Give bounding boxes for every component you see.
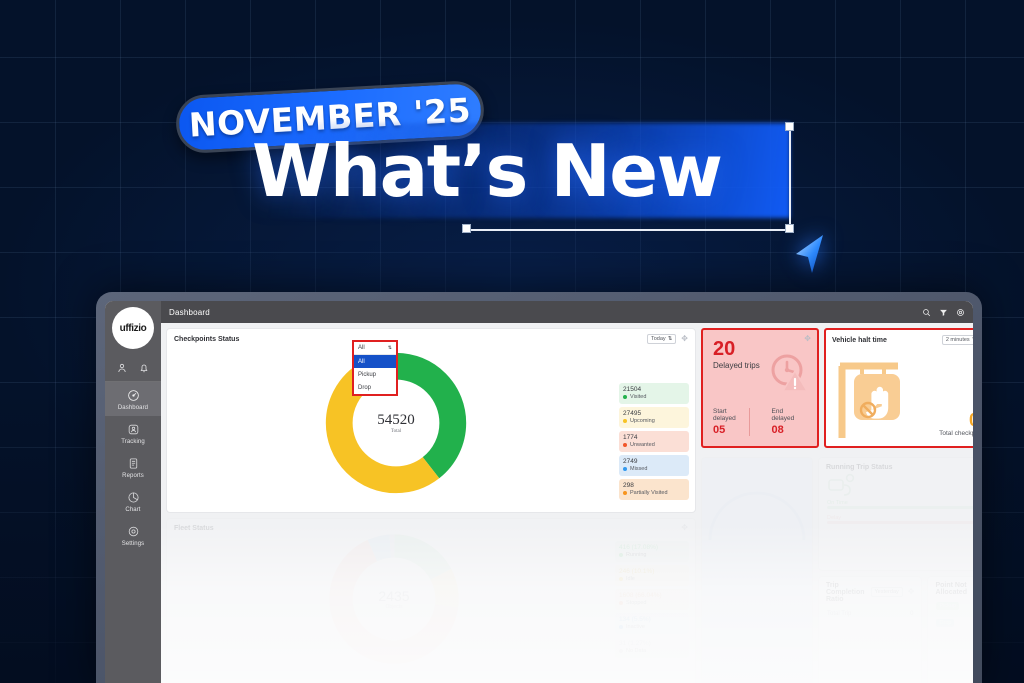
legend-item[interactable]: 134 (5.5%) Inactive bbox=[615, 613, 689, 634]
second-cards-row: Running Trip Status ✥ bbox=[701, 457, 968, 683]
legend-value: 1774 bbox=[623, 434, 685, 442]
legend-value: 246 (10.1%) bbox=[619, 568, 685, 576]
legend-value: 1608 (66.04%) bbox=[619, 592, 685, 600]
sidebar-item-label: Tracking bbox=[121, 439, 145, 445]
legend-item[interactable]: 2749 Missed bbox=[619, 455, 689, 476]
delay-label: Delay bbox=[827, 515, 841, 521]
legend-dot bbox=[623, 491, 627, 495]
legend-dot bbox=[619, 601, 623, 605]
legend-name: Missed bbox=[623, 466, 685, 473]
card-header: Checkpoints Status Today⇅ ✥ bbox=[167, 329, 695, 346]
vehicle-halt-time-card: Vehicle halt time 2 minutes⇅ ✥ bbox=[824, 328, 973, 448]
checkpoints-period-select[interactable]: Today⇅ bbox=[647, 334, 676, 344]
selection-handle-top-right[interactable] bbox=[785, 122, 794, 131]
legend-label: Running bbox=[626, 552, 647, 559]
legend-dot bbox=[623, 443, 627, 447]
drag-move-icon[interactable]: ✥ bbox=[681, 335, 688, 343]
legend-label: Unwanted bbox=[630, 442, 655, 449]
card-header: Running Trip Status ✥ bbox=[819, 458, 973, 473]
legend-item[interactable]: 1608 (66.04%) Stopped bbox=[615, 589, 689, 610]
selection-line-vertical bbox=[789, 128, 791, 228]
end-delayed-value: 08 bbox=[772, 424, 808, 436]
drag-move-icon[interactable]: ✥ bbox=[681, 524, 688, 532]
card-title: Running Trip Status bbox=[826, 464, 893, 471]
selection-line-horizontal bbox=[466, 229, 791, 231]
filter-icon[interactable] bbox=[939, 308, 948, 317]
legend-item[interactable]: 27495 Upcoming bbox=[619, 407, 689, 428]
legend-name: Inactive bbox=[619, 624, 685, 631]
running-trip-status-card: Running Trip Status ✥ bbox=[818, 457, 973, 571]
legend-label: No Data bbox=[626, 648, 646, 655]
sidebar-item-label: Settings bbox=[122, 541, 144, 547]
gear-icon[interactable] bbox=[956, 308, 965, 317]
delayed-trips-card: ✥ 20 Delayed trips bbox=[701, 328, 819, 448]
drop-row: Drop 0 bbox=[928, 615, 973, 632]
app-logo[interactable]: uffizio bbox=[112, 307, 154, 349]
sidebar-item-reports[interactable]: Reports bbox=[105, 450, 161, 484]
laptop-frame: uffizio Dashboard Tracking bbox=[96, 292, 982, 683]
legend-name: Idle bbox=[619, 576, 685, 583]
donut-total-value: 54520 bbox=[377, 412, 415, 429]
end-delayed-block: End delayed 08 bbox=[749, 408, 808, 436]
top-cards-row: ✥ 20 Delayed trips bbox=[701, 328, 968, 452]
delay-bar-fill bbox=[827, 521, 973, 524]
settings-icon bbox=[127, 525, 140, 538]
card-tools: Today⇅ ✥ bbox=[647, 334, 688, 344]
dashboard-icon bbox=[127, 389, 140, 402]
bottom-small-cards: Trip Completion Ratio Yesterday ✥ Total … bbox=[818, 576, 973, 683]
route-bus-icon bbox=[827, 473, 857, 497]
dropdown-current-label: All bbox=[358, 345, 365, 351]
legend-name: Visited bbox=[623, 394, 685, 401]
legend-item[interactable]: 1774 Unwanted bbox=[619, 431, 689, 452]
running-trip-ontime-row: On Time206 bbox=[819, 497, 973, 512]
second-row-right: Running Trip Status ✥ bbox=[818, 457, 973, 683]
legend-dot bbox=[619, 553, 623, 557]
legend-value: 134 (5.5%) bbox=[619, 616, 685, 624]
select-value: 2 minutes bbox=[946, 337, 970, 343]
delay-clock-warning-icon bbox=[765, 352, 809, 394]
legend-dot bbox=[619, 649, 623, 653]
legend-value: 416 (17.08%) bbox=[619, 544, 685, 552]
running-trip-delay-row: Delay226 bbox=[819, 512, 973, 527]
legend-item[interactable]: 31 (1.27%) No Data bbox=[615, 637, 689, 658]
fleet-status-body: 2435 Objects 416 (17.08%) Running 246 (1… bbox=[167, 534, 695, 664]
end-delayed-label: End delayed bbox=[772, 408, 808, 422]
fleet-total-value: 2435 bbox=[378, 588, 409, 604]
sidebar-item-chart[interactable]: Chart bbox=[105, 484, 161, 518]
total-trip-value: 0 bbox=[910, 611, 913, 617]
drag-move-icon[interactable]: ✥ bbox=[908, 588, 915, 596]
card-title: Trip Completion Ratio bbox=[826, 582, 865, 603]
select-value: Yesterday bbox=[875, 589, 899, 595]
legend-value: 21504 bbox=[623, 386, 685, 394]
legend-label: Inactive bbox=[626, 624, 645, 631]
running-trip-summary: 432 Trips bbox=[819, 473, 973, 497]
legend-item[interactable]: 21504 Visited bbox=[619, 383, 689, 404]
ontime-bar-track bbox=[827, 506, 973, 509]
checkpoints-legend: 21504 Visited 27495 Upcoming bbox=[619, 346, 689, 500]
card-tools: 2 minutes⇅ ✥ bbox=[942, 335, 973, 345]
legend-label: Idle bbox=[626, 576, 635, 583]
card-header: Point Not Allocated Yesterday ✥ bbox=[928, 577, 973, 598]
legend-dot bbox=[619, 625, 623, 629]
pickup-badge: Pickup bbox=[936, 602, 959, 610]
bell-icon[interactable] bbox=[138, 362, 150, 374]
sidebar-item-label: Chart bbox=[125, 507, 140, 513]
card-title: Point Not Allocated bbox=[935, 582, 967, 596]
legend-dot bbox=[623, 395, 627, 399]
halt-hand-sign-icon bbox=[832, 352, 910, 442]
legend-value: 31 (1.27%) bbox=[619, 640, 685, 648]
total-trip-label: Total Trip bbox=[827, 611, 851, 617]
speedometer-icon bbox=[702, 484, 812, 544]
dashboard-right-column: ✥ 20 Delayed trips bbox=[701, 328, 968, 683]
fleet-total-label: Objects bbox=[378, 604, 409, 610]
app-main: Dashboard Checkpoints Status Today⇅ bbox=[161, 301, 973, 683]
legend-item[interactable]: 246 (10.1%) Idle bbox=[615, 565, 689, 586]
checkpoints-type-dropdown[interactable]: All ⇅ All Pickup Drop bbox=[352, 340, 398, 396]
page-title: What’s New bbox=[252, 125, 722, 217]
chevron-down-icon: ⇅ bbox=[668, 336, 673, 342]
legend-value: 298 bbox=[623, 482, 685, 490]
point-not-allocated-card: Point Not Allocated Yesterday ✥ Pickup 7… bbox=[927, 576, 973, 683]
legend-item[interactable]: 416 (17.08%) Running bbox=[615, 541, 689, 562]
sidebar-item-settings[interactable]: Settings bbox=[105, 518, 161, 552]
total-trip-row: Total Trip 0 bbox=[819, 605, 921, 623]
delay-bar-track bbox=[827, 521, 973, 524]
trip-completion-ratio-card: Trip Completion Ratio Yesterday ✥ Total … bbox=[818, 576, 922, 683]
dashboard-left-column: Checkpoints Status Today⇅ ✥ bbox=[166, 328, 696, 683]
halt-duration-select[interactable]: 2 minutes⇅ bbox=[942, 335, 973, 345]
legend-name: Unwanted bbox=[623, 442, 685, 449]
legend-value: 27495 bbox=[623, 410, 685, 418]
breadcrumb: Dashboard bbox=[169, 308, 210, 317]
ontime-label: On Time bbox=[827, 500, 848, 506]
checkpoints-status-card: Checkpoints Status Today⇅ ✥ bbox=[166, 328, 696, 513]
start-delayed-block: Start delayed 05 bbox=[713, 408, 749, 436]
topbar-icons bbox=[922, 308, 965, 317]
legend-label: Stopped bbox=[626, 600, 647, 607]
card-tools: ✥ bbox=[681, 524, 688, 532]
halt-total-label: Total checkpoints bbox=[939, 430, 973, 437]
legend-name: No Data bbox=[619, 648, 685, 655]
period-select[interactable]: Yesterday bbox=[871, 587, 903, 597]
ontime-bar-fill bbox=[827, 506, 973, 509]
chevron-down-icon: ⇅ bbox=[388, 345, 392, 351]
legend-dot bbox=[623, 467, 627, 471]
chart-icon bbox=[127, 491, 140, 504]
legend-name: Stopped bbox=[619, 600, 685, 607]
drag-move-icon[interactable]: ✥ bbox=[804, 335, 811, 343]
legend-label: Visited bbox=[630, 394, 646, 401]
card-tools: Yesterday ✥ bbox=[871, 587, 915, 597]
tracking-icon bbox=[127, 423, 140, 436]
legend-label: Upcoming bbox=[630, 418, 655, 425]
cursor-arrow-icon bbox=[792, 232, 834, 278]
start-delayed-value: 05 bbox=[713, 424, 749, 436]
card-header: Trip Completion Ratio Yesterday ✥ bbox=[819, 577, 921, 605]
sidebar-item-dashboard[interactable]: Dashboard bbox=[105, 382, 161, 416]
card-header: Vehicle halt time 2 minutes⇅ ✥ bbox=[826, 330, 973, 345]
legend-name: Upcoming bbox=[623, 418, 685, 425]
dropdown-option-all[interactable]: All bbox=[354, 355, 396, 368]
legend-dot bbox=[623, 419, 627, 423]
fleet-legend: 416 (17.08%) Running 246 (10.1%) Idle 16… bbox=[615, 534, 689, 664]
hero-section: NOVEMBER '25 What’s New bbox=[0, 0, 1024, 300]
legend-value: 2749 bbox=[623, 458, 685, 466]
app-sidebar: uffizio Dashboard Tracking bbox=[105, 301, 161, 683]
title-wrapper: What’s New bbox=[250, 123, 790, 218]
sidebar-top-icons bbox=[105, 356, 161, 382]
legend-label: Partially Visited bbox=[630, 490, 668, 497]
card-title: Vehicle halt time bbox=[832, 337, 887, 344]
app-topbar: Dashboard bbox=[161, 301, 973, 323]
drop-badge: Drop bbox=[936, 619, 954, 627]
pickup-row: Pickup 77 bbox=[928, 598, 973, 615]
selection-handle-bottom-left[interactable] bbox=[462, 224, 471, 233]
search-icon[interactable] bbox=[922, 308, 931, 317]
halt-total-value: 05 bbox=[939, 411, 973, 430]
legend-name: Partially Visited bbox=[623, 490, 685, 497]
user-icon[interactable] bbox=[116, 362, 128, 374]
delayed-trips-breakdown: Start delayed 05 End delayed 08 bbox=[713, 408, 807, 436]
speedometer-card bbox=[701, 457, 813, 683]
dropdown-current-value[interactable]: All ⇅ bbox=[354, 342, 396, 355]
fleet-status-card: Fleet Status ✥ bbox=[166, 518, 696, 683]
sidebar-item-label: Reports bbox=[122, 473, 144, 479]
laptop-screen: uffizio Dashboard Tracking bbox=[105, 301, 973, 683]
start-delayed-label: Start delayed bbox=[713, 408, 749, 422]
select-value: Today bbox=[651, 336, 666, 342]
card-title: Fleet Status bbox=[174, 525, 214, 532]
chevron-down-icon: ⇅ bbox=[972, 337, 973, 343]
legend-name: Running bbox=[619, 552, 685, 559]
legend-item[interactable]: 298 Partially Visited bbox=[619, 479, 689, 500]
legend-dot bbox=[619, 577, 623, 581]
sidebar-item-tracking[interactable]: Tracking bbox=[105, 416, 161, 450]
halt-value-block: 05 Total checkpoints bbox=[939, 411, 973, 437]
card-title: Checkpoints Status bbox=[174, 336, 239, 343]
checkpoints-body: 54520 Total 21504 Visited bbox=[167, 346, 695, 506]
reports-icon bbox=[127, 457, 140, 470]
dashboard-content: Checkpoints Status Today⇅ ✥ bbox=[161, 323, 973, 683]
dropdown-option-pickup[interactable]: Pickup bbox=[354, 368, 396, 381]
legend-label: Missed bbox=[630, 466, 647, 473]
dropdown-option-drop[interactable]: Drop bbox=[354, 381, 396, 394]
sidebar-item-label: Dashboard bbox=[118, 405, 148, 411]
donut-total-label: Total bbox=[377, 429, 415, 434]
app-logo-text: uffizio bbox=[120, 323, 147, 334]
